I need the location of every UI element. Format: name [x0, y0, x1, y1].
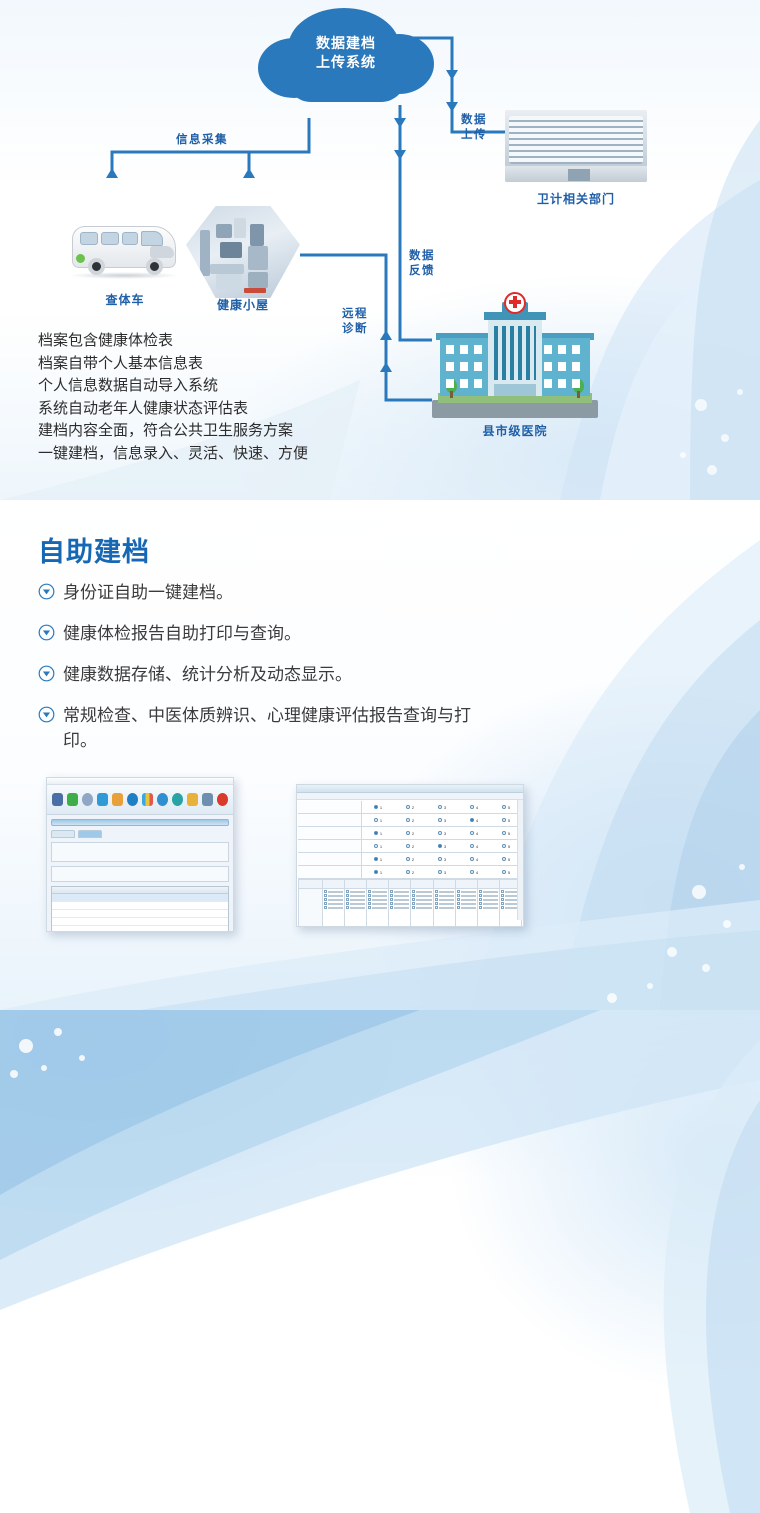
chevron-down-circle-icon	[38, 706, 55, 723]
window-toolbar	[47, 785, 233, 815]
question-text	[298, 827, 362, 839]
checkbox-icon[interactable]	[390, 906, 393, 909]
feature-line: 建档内容全面，符合公共卫生服务方案	[38, 420, 308, 443]
option-1[interactable]: 1	[362, 844, 394, 849]
checkbox-icon[interactable]	[390, 898, 393, 901]
flow-label-remote-diagnosis: 远程 诊断	[340, 307, 370, 337]
flow-label-upload-line2: 上传	[459, 128, 489, 143]
toolbar-icon[interactable]	[112, 793, 123, 806]
option-1[interactable]: 1	[362, 870, 394, 875]
checkbox-icon[interactable]	[412, 906, 415, 909]
option-2[interactable]: 2	[394, 831, 426, 836]
checkbox-item[interactable]	[390, 890, 409, 893]
checkbox-label	[328, 895, 343, 897]
radio-icon[interactable]	[470, 870, 474, 874]
checkbox-icon[interactable]	[501, 894, 504, 897]
option-2[interactable]: 2	[394, 818, 426, 823]
checkbox-icon[interactable]	[435, 894, 438, 897]
radio-icon[interactable]	[438, 831, 442, 835]
checkbox-label	[483, 891, 498, 893]
tab-item[interactable]	[51, 830, 75, 838]
col-head	[367, 880, 389, 888]
window-titlebar	[297, 785, 523, 793]
node-caption-hospital: 县市级医院	[432, 422, 598, 439]
checkbox-icon[interactable]	[479, 906, 482, 909]
checkbox-icon[interactable]	[390, 890, 393, 893]
checkbox-icon[interactable]	[412, 890, 415, 893]
option-4[interactable]: 4	[458, 831, 490, 836]
form-question-row[interactable]: 1 2 3 4 5	[298, 814, 522, 827]
health-assessment-form-window[interactable]: 1 2 3 4 5 1 2 3 4 5 1 2	[296, 784, 524, 927]
checkbox-item[interactable]	[346, 890, 365, 893]
county-hospital-image	[432, 300, 598, 418]
radio-icon[interactable]	[438, 805, 442, 809]
tab-strip[interactable]	[51, 830, 229, 838]
option-2[interactable]: 2	[394, 870, 426, 875]
checkbox-icon[interactable]	[346, 894, 349, 897]
checkbox-icon[interactable]	[346, 898, 349, 901]
cabin-equipment	[248, 272, 268, 288]
radio-icon[interactable]	[374, 857, 378, 861]
building-floors	[509, 116, 643, 164]
hospital-center-window-grid	[494, 326, 536, 380]
diagram-feature-list: 档案包含健康体检表 档案自带个人基本信息表 个人信息数据自动导入系统 系统自动老…	[38, 330, 308, 465]
checkbox-item[interactable]	[479, 890, 498, 893]
chart-icon[interactable]	[142, 793, 153, 806]
checkbox-item[interactable]	[479, 894, 498, 897]
radio-icon[interactable]	[438, 870, 442, 874]
list-item: 身份证自助一键建档。	[38, 580, 498, 605]
option-2[interactable]: 2	[394, 805, 426, 810]
hospital-window	[446, 362, 454, 371]
radio-icon[interactable]	[406, 857, 410, 861]
hospital-window	[544, 362, 552, 371]
checkbox-item[interactable]	[412, 906, 431, 909]
checkbox-item[interactable]	[346, 898, 365, 901]
chevron-down-circle-icon	[38, 583, 55, 600]
checkbox-label	[328, 899, 343, 901]
cabin-panel	[200, 230, 210, 276]
red-cross-icon	[513, 296, 517, 308]
radio-icon[interactable]	[406, 818, 410, 822]
checkbox-label	[439, 907, 454, 909]
hospital-window	[572, 345, 580, 354]
checkbox-label	[461, 907, 476, 909]
checkbox-icon[interactable]	[501, 898, 504, 901]
checkbox-icon[interactable]	[479, 902, 482, 905]
checkbox-icon[interactable]	[479, 890, 482, 893]
checkbox-item[interactable]	[324, 890, 343, 893]
node-caption-health-cabin: 健康小屋	[186, 296, 300, 313]
checkbox-item[interactable]	[457, 894, 476, 897]
checkbox-item[interactable]	[457, 890, 476, 893]
question-text	[298, 840, 362, 852]
hospital-window	[460, 379, 468, 388]
checkbox-icon[interactable]	[368, 906, 371, 909]
table-row[interactable]	[52, 918, 228, 926]
cabin-device	[234, 218, 246, 238]
cloud-label-line2: 上传系统	[258, 53, 434, 72]
radio-icon[interactable]	[502, 870, 506, 874]
tab-item-active[interactable]	[78, 830, 102, 838]
filter-panel	[51, 842, 229, 862]
checkbox-icon[interactable]	[457, 898, 460, 901]
checkbox-item[interactable]	[412, 898, 431, 901]
checkbox-icon[interactable]	[457, 894, 460, 897]
radio-icon[interactable]	[502, 805, 506, 809]
checkbox-icon[interactable]	[346, 902, 349, 905]
option-2[interactable]: 2	[394, 844, 426, 849]
checkbox-icon[interactable]	[368, 894, 371, 897]
poster-page: 数据建档 上传系统 信息采集 数据 上传 数据 反馈 远程 诊断	[0, 0, 760, 1513]
checkbox-item[interactable]	[324, 894, 343, 897]
bullet-label: 健康体检报告自助打印与查询。	[63, 621, 301, 646]
cabin-floor-mat	[244, 288, 266, 293]
checkbox-item[interactable]	[390, 906, 409, 909]
toolbar-icon[interactable]	[127, 793, 138, 806]
radio-icon[interactable]	[470, 844, 474, 848]
checkbox-item[interactable]	[324, 898, 343, 901]
chevron-down-circle-icon	[38, 665, 55, 682]
radio-icon[interactable]	[502, 818, 506, 822]
checkbox-icon[interactable]	[412, 902, 415, 905]
form-toolbar	[297, 793, 523, 800]
hospital-window	[558, 345, 566, 354]
flow-label-remote-line1: 远程	[340, 307, 370, 322]
checkbox-label	[328, 903, 343, 905]
tools-icon[interactable]	[202, 793, 213, 806]
vertical-scrollbar[interactable]	[517, 800, 523, 920]
toolbar-icon[interactable]	[97, 793, 108, 806]
checkbox-icon[interactable]	[457, 906, 460, 909]
radio-icon[interactable]	[438, 857, 442, 861]
checkbox-icon[interactable]	[324, 902, 327, 905]
checkbox-label	[350, 899, 365, 901]
checkbox-column[interactable]	[456, 889, 478, 927]
feature-line: 一键建档，信息录入、灵活、快速、方便	[38, 443, 308, 466]
checkbox-column[interactable]	[345, 889, 367, 927]
hospital-window	[572, 379, 580, 388]
col-head	[434, 880, 456, 888]
table-row[interactable]	[52, 902, 228, 910]
checkbox-icon[interactable]	[479, 898, 482, 901]
checkbox-icon[interactable]	[368, 898, 371, 901]
option-3[interactable]: 3	[426, 857, 458, 862]
radio-icon[interactable]	[470, 818, 474, 822]
checkbox-label	[416, 903, 431, 905]
bullet-label: 健康数据存储、统计分析及动态显示。	[63, 662, 352, 687]
flow-label-upload: 数据 上传	[459, 113, 489, 143]
checkbox-icon[interactable]	[390, 894, 393, 897]
checkbox-icon[interactable]	[457, 902, 460, 905]
list-item: 常规检查、中医体质辨识、心理健康评估报告查询与打印。	[38, 703, 498, 753]
checkbox-icon[interactable]	[457, 890, 460, 893]
chevron-down-circle-icon	[38, 624, 55, 641]
van-window	[101, 232, 119, 245]
checkbox-label	[483, 903, 498, 905]
checkbox-label	[416, 907, 431, 909]
checkbox-item[interactable]	[479, 902, 498, 905]
radio-icon[interactable]	[502, 857, 506, 861]
checkbox-column[interactable]	[367, 889, 389, 927]
form-question-row[interactable]: 1 2 3 4 5	[298, 840, 522, 853]
cloud-label: 数据建档 上传系统	[258, 34, 434, 72]
checkbox-icon[interactable]	[390, 902, 393, 905]
checkbox-label	[483, 907, 498, 909]
form-question-row[interactable]: 1 2 3 4 5	[298, 801, 522, 814]
checkbox-item[interactable]	[346, 906, 365, 909]
radio-icon[interactable]	[374, 844, 378, 848]
checkbox-label	[394, 903, 409, 905]
window-content	[47, 815, 233, 932]
hospital-window	[460, 362, 468, 371]
cloud-node: 数据建档 上传系统	[258, 8, 434, 112]
hospital-window	[474, 345, 482, 354]
self-service-section: 自助建档 身份证自助一键建档。 健康体检报告自助打印与查询。	[0, 500, 760, 1010]
search-icon[interactable]	[82, 793, 93, 806]
checkbox-column[interactable]	[411, 889, 433, 927]
radio-icon[interactable]	[374, 805, 378, 809]
table-row[interactable]	[52, 926, 228, 932]
checkbox-icon[interactable]	[346, 906, 349, 909]
background-swoosh-bottom	[0, 1010, 760, 1513]
hospital-window	[558, 362, 566, 371]
checkbox-icon[interactable]	[368, 902, 371, 905]
cabin-device	[250, 224, 264, 246]
system-diagram-section: 数据建档 上传系统 信息采集 数据 上传 数据 反馈 远程 诊断	[0, 0, 760, 500]
hospital-window	[572, 362, 580, 371]
hospital-window	[446, 345, 454, 354]
bullet-label: 常规检查、中医体质辨识、心理健康评估报告查询与打印。	[63, 703, 483, 753]
option-3[interactable]: 3	[426, 831, 458, 836]
radio-icon[interactable]	[502, 844, 506, 848]
radio-icon[interactable]	[374, 831, 378, 835]
option-3[interactable]: 3	[426, 844, 458, 849]
option-4[interactable]: 4	[458, 805, 490, 810]
form-question-row[interactable]: 1 2 3 4 5	[298, 853, 522, 866]
checkbox-label	[372, 899, 387, 901]
radio-icon[interactable]	[438, 818, 442, 822]
radio-icon[interactable]	[374, 818, 378, 822]
radio-icon[interactable]	[470, 805, 474, 809]
checkbox-item[interactable]	[368, 890, 387, 893]
checkbox-icon[interactable]	[435, 902, 438, 905]
toolbar-icon[interactable]	[67, 793, 78, 806]
option-1[interactable]: 1	[362, 805, 394, 810]
hospital-window	[474, 362, 482, 371]
flow-label-upload-line1: 数据	[459, 113, 489, 128]
toolbar-icon[interactable]	[52, 793, 63, 806]
window-menubar	[47, 778, 233, 785]
archive-management-window[interactable]	[46, 777, 234, 932]
checkbox-icon[interactable]	[501, 902, 504, 905]
checkbox-icon[interactable]	[324, 894, 327, 897]
col-head	[323, 880, 345, 888]
option-3[interactable]: 3	[426, 870, 458, 875]
checkbox-icon[interactable]	[412, 894, 415, 897]
node-caption-authority: 卫计相关部门	[505, 190, 647, 207]
checkbox-icon[interactable]	[324, 898, 327, 901]
checkbox-item[interactable]	[324, 902, 343, 905]
option-4[interactable]: 4	[458, 818, 490, 823]
cabin-device	[216, 224, 232, 238]
checkbox-item[interactable]	[368, 902, 387, 905]
cabin-screen	[220, 242, 242, 258]
option-2[interactable]: 2	[394, 857, 426, 862]
option-3[interactable]: 3	[426, 805, 458, 810]
radio-icon[interactable]	[438, 844, 442, 848]
hospital-window	[460, 345, 468, 354]
checkbox-label	[372, 891, 387, 893]
radio-icon[interactable]	[406, 831, 410, 835]
table-header	[52, 887, 228, 894]
building-entrance	[568, 169, 590, 181]
checkbox-icon[interactable]	[346, 890, 349, 893]
checkbox-label	[350, 895, 365, 897]
tree-trunk	[450, 391, 453, 398]
checkbox-item[interactable]	[368, 906, 387, 909]
checkbox-icon[interactable]	[324, 906, 327, 909]
checkbox-item[interactable]	[368, 894, 387, 897]
checkbox-column[interactable]	[323, 889, 345, 927]
checkbox-item[interactable]	[435, 902, 454, 905]
feature-line: 档案自带个人基本信息表	[38, 353, 308, 376]
list-item: 健康数据存储、统计分析及动态显示。	[38, 662, 498, 687]
checkbox-item[interactable]	[479, 898, 498, 901]
radio-icon[interactable]	[470, 857, 474, 861]
table-row[interactable]	[52, 894, 228, 902]
self-service-bullet-list: 身份证自助一键建档。 健康体检报告自助打印与查询。 健康数据存储、统计分析及动态…	[38, 580, 498, 769]
checkbox-label	[483, 899, 498, 901]
checkbox-item[interactable]	[435, 906, 454, 909]
checkbox-item[interactable]	[435, 898, 454, 901]
checkbox-icon[interactable]	[501, 890, 504, 893]
checkbox-item[interactable]	[435, 894, 454, 897]
toolbar-icon[interactable]	[172, 793, 183, 806]
medical-exam-van-image	[66, 216, 184, 286]
hospital-window	[544, 379, 552, 388]
option-4[interactable]: 4	[458, 844, 490, 849]
checkbox-item[interactable]	[390, 898, 409, 901]
row-head	[299, 889, 323, 927]
option-1[interactable]: 1	[362, 831, 394, 836]
checkbox-label	[394, 891, 409, 893]
van-windshield	[141, 231, 163, 246]
node-caption-van: 查体车	[66, 291, 184, 308]
checkbox-label	[394, 895, 409, 897]
radio-icon[interactable]	[406, 844, 410, 848]
table-row[interactable]	[52, 910, 228, 918]
camera-icon[interactable]	[157, 793, 168, 806]
van-wheel	[88, 258, 105, 275]
hospital-window	[474, 379, 482, 388]
hospital-entrance-steps	[494, 384, 536, 396]
checkbox-item[interactable]	[435, 890, 454, 893]
checkbox-icon[interactable]	[412, 898, 415, 901]
checkbox-icon[interactable]	[324, 890, 327, 893]
checkbox-item[interactable]	[390, 902, 409, 905]
option-4[interactable]: 4	[458, 870, 490, 875]
user-icon[interactable]	[187, 793, 198, 806]
option-4[interactable]: 4	[458, 857, 490, 862]
checkbox-column[interactable]	[478, 889, 500, 927]
checkbox-label	[483, 895, 498, 897]
van-front-grille	[150, 246, 174, 258]
checkbox-icon[interactable]	[435, 898, 438, 901]
checkbox-column[interactable]	[389, 889, 411, 927]
form-question-row[interactable]: 1 2 3 4 5	[298, 866, 522, 879]
feature-line: 档案包含健康体检表	[38, 330, 308, 353]
checkbox-column[interactable]	[434, 889, 456, 927]
flow-label-remote-line2: 诊断	[340, 322, 370, 337]
checkbox-item[interactable]	[412, 890, 431, 893]
section-title-self-service: 自助建档	[38, 530, 150, 569]
col-head	[478, 880, 500, 888]
checkbox-item[interactable]	[457, 906, 476, 909]
system-advantages-section: 国家基本公共卫生服务车 系统优势	[0, 1010, 760, 1513]
checklist-body[interactable]	[298, 889, 522, 927]
radio-icon[interactable]	[374, 870, 378, 874]
checkbox-label	[350, 891, 365, 893]
checkbox-item[interactable]	[346, 894, 365, 897]
checkbox-icon[interactable]	[479, 894, 482, 897]
checkbox-item[interactable]	[390, 894, 409, 897]
question-text	[298, 853, 362, 865]
checkbox-label	[372, 907, 387, 909]
inner-window-titlebar	[51, 819, 229, 826]
van-shadow	[68, 272, 180, 279]
option-1[interactable]: 1	[362, 857, 394, 862]
checkbox-item[interactable]	[412, 894, 431, 897]
checkbox-icon[interactable]	[368, 890, 371, 893]
form-body: 1 2 3 4 5 1 2 3 4 5 1 2	[297, 800, 523, 927]
power-icon[interactable]	[217, 793, 228, 806]
option-3[interactable]: 3	[426, 818, 458, 823]
checkbox-item[interactable]	[412, 902, 431, 905]
question-text	[298, 814, 362, 826]
checkbox-item[interactable]	[346, 902, 365, 905]
records-table[interactable]	[51, 886, 229, 932]
checkbox-icon[interactable]	[435, 906, 438, 909]
checkbox-label	[461, 895, 476, 897]
checkbox-label	[439, 903, 454, 905]
radio-icon[interactable]	[502, 831, 506, 835]
checklist-header-row	[298, 879, 522, 889]
checkbox-item[interactable]	[457, 898, 476, 901]
checkbox-label	[416, 895, 431, 897]
bullet-label: 身份证自助一键建档。	[63, 580, 233, 605]
question-text	[298, 801, 362, 813]
col-head	[411, 880, 433, 888]
van-green-stripe	[76, 254, 85, 263]
form-question-row[interactable]: 1 2 3 4 5	[298, 827, 522, 840]
checkbox-icon[interactable]	[501, 906, 504, 909]
flow-label-collect: 信息采集	[176, 131, 228, 147]
checkbox-item[interactable]	[479, 906, 498, 909]
checkbox-item[interactable]	[324, 906, 343, 909]
feature-line: 个人信息数据自动导入系统	[38, 375, 308, 398]
list-item: 健康体检报告自助打印与查询。	[38, 621, 498, 646]
checkbox-item[interactable]	[457, 902, 476, 905]
checkbox-icon[interactable]	[435, 890, 438, 893]
checkbox-item[interactable]	[368, 898, 387, 901]
option-1[interactable]: 1	[362, 818, 394, 823]
radio-icon[interactable]	[406, 805, 410, 809]
flow-label-feedback: 数据 反馈	[407, 249, 437, 279]
radio-icon[interactable]	[406, 870, 410, 874]
radio-icon[interactable]	[470, 831, 474, 835]
checkbox-label	[461, 899, 476, 901]
